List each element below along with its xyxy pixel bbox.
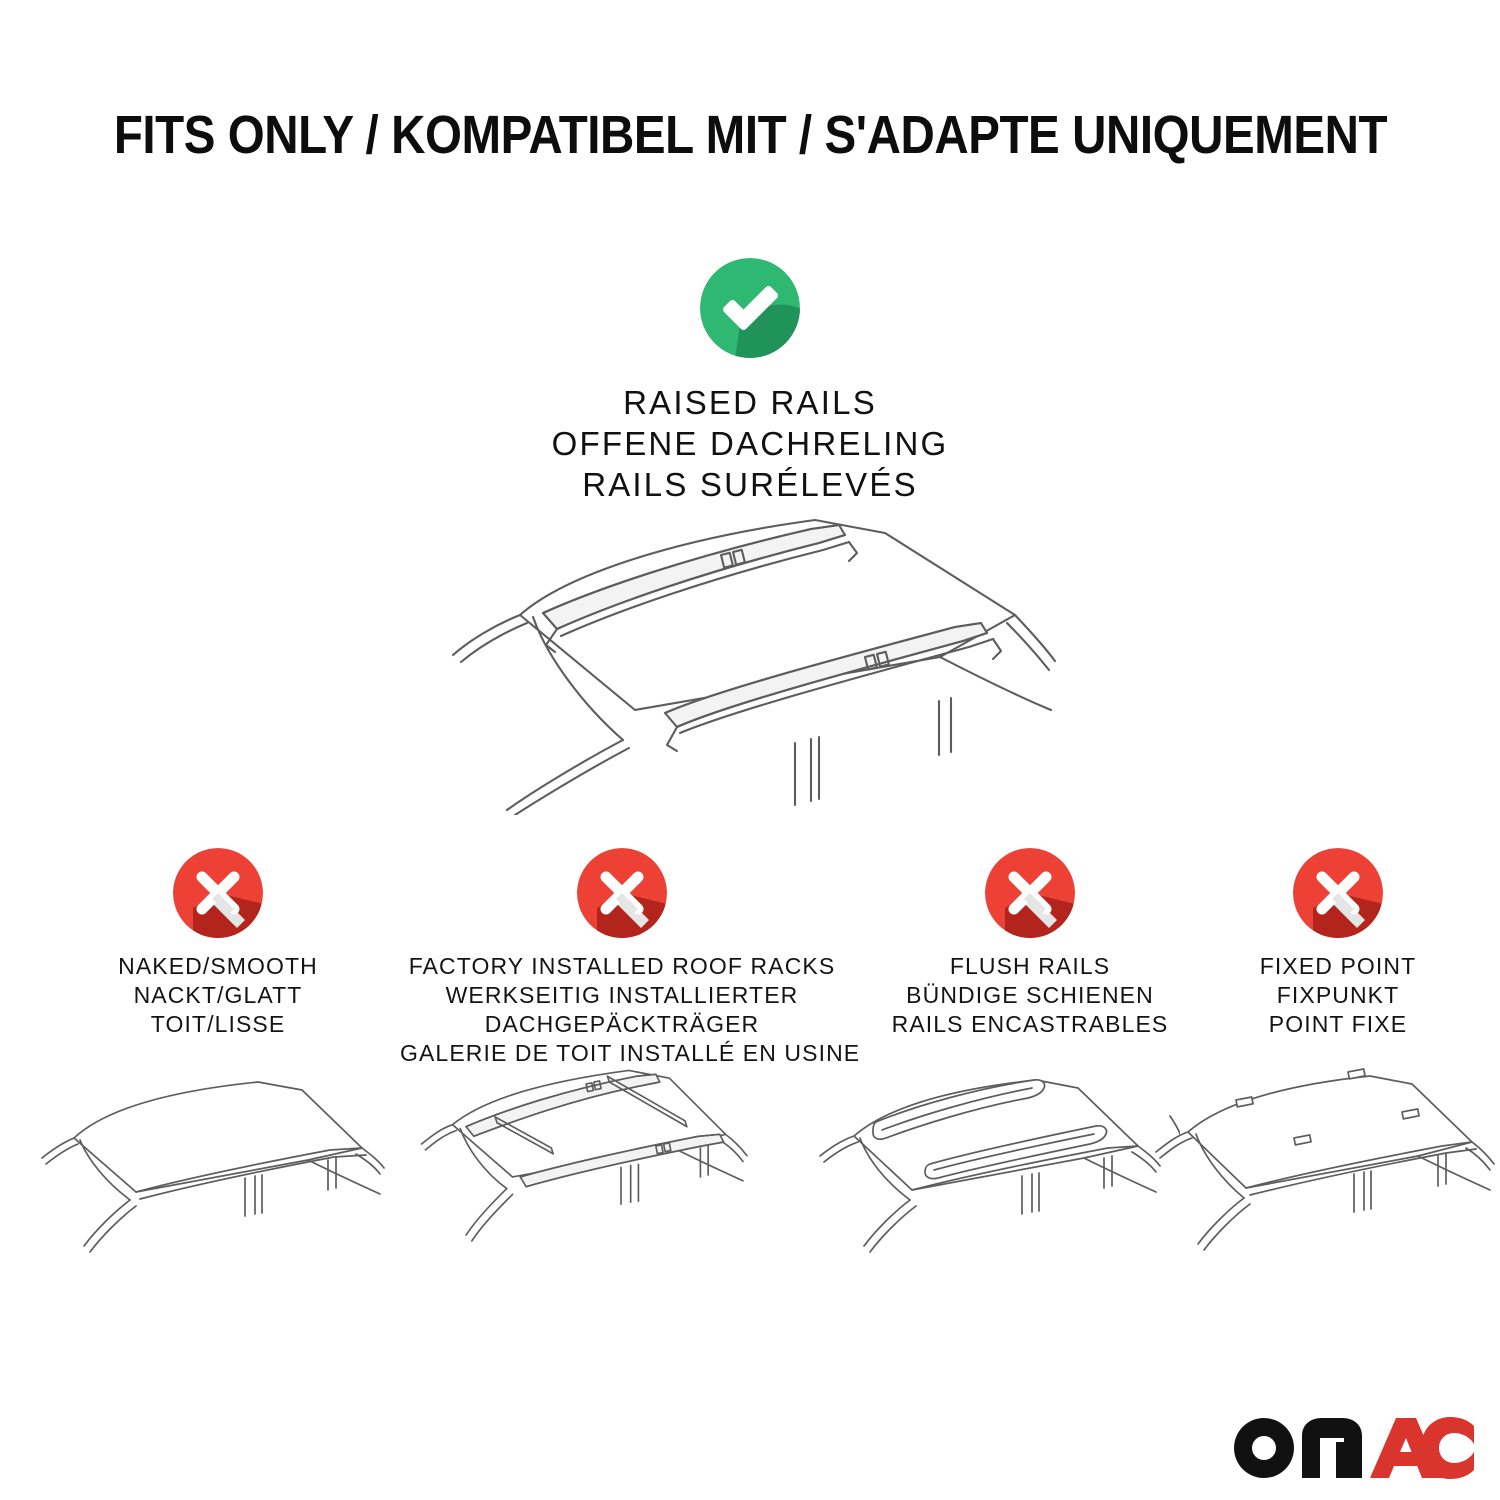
incompatible-label-2-de-2: DACHGEPÄCKTRÄGER <box>400 1010 844 1039</box>
car-roof-raised-rails-illustration <box>415 505 1095 815</box>
compatible-label-de: OFFENE DACHRELING <box>510 423 990 464</box>
compatible-labels: RAISED RAILS OFFENE DACHRELING RAILS SUR… <box>510 382 990 505</box>
logo-letter-m <box>1302 1418 1362 1478</box>
x-circle-icon <box>1293 848 1383 938</box>
x-circle-icon <box>985 848 1075 938</box>
incompatible-label-1-fr: TOIT/LISSE <box>58 1010 378 1039</box>
incompatible-column-flush-rails: FLUSH RAILS BÜNDIGE SCHIENEN RAILS ENCAS… <box>862 848 1198 1039</box>
omac-logo <box>1232 1408 1474 1480</box>
incompatible-status-badge-2 <box>577 848 667 938</box>
incompatible-column-fixed-point: FIXED POINT FIXPUNKT POINT FIXE <box>1186 848 1490 1039</box>
compatible-section: RAISED RAILS OFFENE DACHRELING RAILS SUR… <box>510 258 990 505</box>
incompatible-label-4-de: FIXPUNKT <box>1186 981 1490 1010</box>
check-circle-icon <box>700 258 800 358</box>
car-roof-naked-smooth-illustration <box>40 1060 400 1275</box>
page-title: FITS ONLY / KOMPATIBEL MIT / S'ADAPTE UN… <box>113 104 1386 166</box>
incompatible-column-factory-rack: FACTORY INSTALLED ROOF RACKS WERKSEITIG … <box>400 848 844 1068</box>
x-circle-icon <box>577 848 667 938</box>
incompatible-section: NAKED/SMOOTH NACKT/GLATT TOIT/LISSE <box>0 848 1500 1058</box>
car-roof-flush-rails-illustration <box>812 1060 1180 1275</box>
incompatible-labels-2: FACTORY INSTALLED ROOF RACKS WERKSEITIG … <box>400 952 844 1068</box>
incompatible-label-2-en: FACTORY INSTALLED ROOF RACKS <box>400 952 844 981</box>
incompatible-status-badge-3 <box>985 848 1075 938</box>
compatible-label-fr: RAILS SURÉLEVÉS <box>510 464 990 505</box>
incompatible-label-3-de: BÜNDIGE SCHIENEN <box>862 981 1198 1010</box>
logo-letter-o <box>1234 1418 1294 1478</box>
car-roof-fixed-point-illustration <box>1152 1060 1500 1275</box>
incompatible-label-4-fr: POINT FIXE <box>1186 1010 1490 1039</box>
compatible-status-badge <box>700 258 800 358</box>
compatible-label-en: RAISED RAILS <box>510 382 990 423</box>
incompatible-label-1-en: NAKED/SMOOTH <box>58 952 378 981</box>
car-roof-factory-rack-illustration <box>400 1053 780 1268</box>
incompatible-label-4-en: FIXED POINT <box>1186 952 1490 981</box>
page-title-bar: FITS ONLY / KOMPATIBEL MIT / S'ADAPTE UN… <box>0 104 1500 166</box>
incompatible-label-2-de-1: WERKSEITIG INSTALLIERTER <box>400 981 844 1010</box>
incompatible-label-3-fr: RAILS ENCASTRABLES <box>862 1010 1198 1039</box>
incompatible-labels-4: FIXED POINT FIXPUNKT POINT FIXE <box>1186 952 1490 1039</box>
incompatible-label-1-de: NACKT/GLATT <box>58 981 378 1010</box>
x-circle-icon <box>173 848 263 938</box>
incompatible-status-badge-4 <box>1293 848 1383 938</box>
incompatible-labels-3: FLUSH RAILS BÜNDIGE SCHIENEN RAILS ENCAS… <box>862 952 1198 1039</box>
logo-letter-c <box>1421 1417 1474 1479</box>
incompatible-labels-1: NAKED/SMOOTH NACKT/GLATT TOIT/LISSE <box>58 952 378 1039</box>
incompatible-label-3-en: FLUSH RAILS <box>862 952 1198 981</box>
incompatible-column-naked-smooth: NAKED/SMOOTH NACKT/GLATT TOIT/LISSE <box>58 848 378 1039</box>
incompatible-status-badge-1 <box>173 848 263 938</box>
